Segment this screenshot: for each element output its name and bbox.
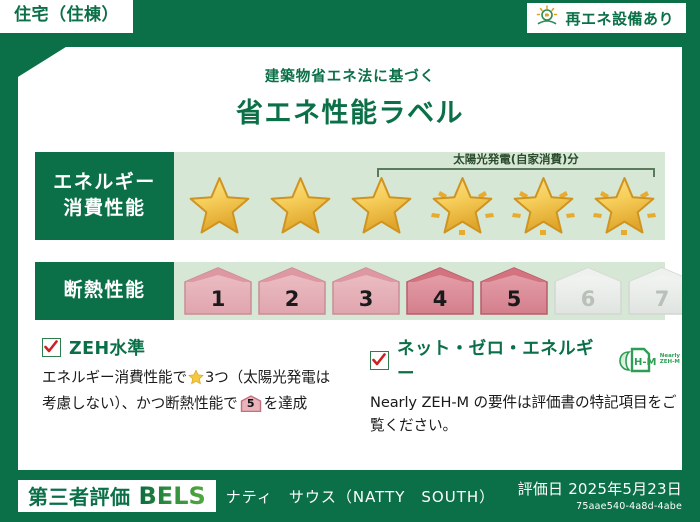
checkbox-checked-icon-2 [370, 351, 389, 370]
solar-bracket-caption: 太陽光発電(自家消費)分 [377, 151, 655, 167]
net-zero-energy-note: ネット・ゼロ・エネルギー H-M [370, 335, 680, 437]
evaluation-id: 75aae540-4a8d-4abe [518, 501, 682, 512]
label-frame: 住宅（住棟） 再エネ設備あり 建築物省エネ法に基づく 省エネ性能 [0, 0, 700, 522]
renewable-badge-label: 再エネ設備あり [565, 8, 674, 29]
insulation-row-body: 1234567 [174, 262, 665, 320]
evaluation-date: 評価日 2025年5月23日 [518, 478, 682, 499]
insulation-level-number: 4 [404, 287, 476, 311]
insulation-level-number: 7 [626, 287, 698, 311]
energy-star-3 [342, 170, 421, 238]
insulation-house-4: 4 [404, 266, 476, 316]
energy-label-line2: 消費性能 [63, 196, 145, 222]
building-type-tag: 住宅（住棟） [0, 0, 133, 33]
insulation-level-scale: 1234567 [182, 266, 698, 316]
page-title: 省エネ性能ラベル [18, 91, 682, 130]
zeh-body-prefix: エネルギー消費性能で [42, 369, 187, 386]
footer-bar: 第三者評価 BELS ナティ サウス（NATTY SOUTH） 評価日 2025… [0, 470, 700, 522]
zeh-note-title: ZEH水準 [69, 335, 145, 360]
bels-jp-label: 第三者評価 [28, 481, 131, 510]
energy-performance-row: エネルギー 消費性能 太陽光発電(自家消費)分 [35, 152, 665, 240]
energy-star-rating [174, 170, 665, 238]
zeh-note-head: ZEH水準 [42, 335, 342, 360]
nze-note-body: Nearly ZEH-M の要件は評価書の特記項目をご覧ください。 [370, 392, 680, 437]
insulation-label: 断熱性能 [63, 278, 145, 304]
insulation-level-number: 3 [330, 287, 402, 311]
energy-row-body: 太陽光発電(自家消費)分 [174, 152, 665, 240]
zeh-m-logo: H-M Nearly ZEH-M [616, 345, 680, 375]
checkbox-checked-icon [42, 338, 61, 357]
zeh-standard-note: ZEH水準 エネルギー消費性能で3つ（太陽光発電は考慮しない）、かつ断熱性能で5… [42, 335, 342, 415]
inline-house-badge: 5 [240, 395, 262, 412]
insulation-house-7: 7 [626, 266, 698, 316]
insulation-row-label: 断熱性能 [35, 262, 174, 320]
page-inner: 建築物省エネ法に基づく 省エネ性能ラベル エネルギー 消費性能 太陽光発電(自家… [18, 47, 682, 470]
zeh-m-sub2: ZEH-M [660, 360, 680, 366]
evaluation-info: 評価日 2025年5月23日 75aae540-4a8d-4abe [518, 478, 682, 512]
energy-star-1 [180, 170, 259, 238]
energy-star-4 [423, 170, 502, 238]
insulation-level-number: 2 [256, 287, 328, 311]
bels-logo-box: 第三者評価 BELS [18, 480, 216, 512]
energy-star-6 [585, 170, 664, 238]
energy-star-5 [504, 170, 583, 238]
inline-house-level: 5 [240, 395, 262, 412]
insulation-level-number: 6 [552, 287, 624, 311]
sun-icon [535, 5, 559, 31]
insulation-house-6: 6 [552, 266, 624, 316]
inline-star-icon [188, 369, 204, 393]
svg-text:H-M: H-M [634, 357, 657, 368]
white-page: 建築物省エネ法に基づく 省エネ性能ラベル エネルギー 消費性能 太陽光発電(自家… [18, 47, 682, 470]
insulation-house-2: 2 [256, 266, 328, 316]
insulation-level-number: 1 [182, 287, 254, 311]
insulation-level-number: 5 [478, 287, 550, 311]
nze-note-title: ネット・ゼロ・エネルギー [397, 335, 606, 385]
insulation-house-1: 1 [182, 266, 254, 316]
nze-note-head: ネット・ゼロ・エネルギー H-M [370, 335, 680, 385]
zeh-note-body: エネルギー消費性能で3つ（太陽光発電は考慮しない）、かつ断熱性能で5を達成 [42, 367, 342, 415]
energy-row-label: エネルギー 消費性能 [35, 152, 174, 240]
insulation-house-3: 3 [330, 266, 402, 316]
zeh-body-suffix: を達成 [264, 395, 307, 412]
insulation-performance-row: 断熱性能 1234567 [35, 262, 665, 320]
renewable-energy-badge: 再エネ設備あり [527, 3, 686, 33]
insulation-house-5: 5 [478, 266, 550, 316]
energy-star-2 [261, 170, 340, 238]
energy-label-line1: エネルギー [53, 170, 156, 196]
label-subtitle: 建築物省エネ法に基づく [18, 65, 682, 86]
building-name: ナティ サウス（NATTY SOUTH） [226, 486, 495, 507]
title-block: 建築物省エネ法に基づく 省エネ性能ラベル [18, 65, 682, 130]
bels-en-label: BELS [139, 482, 206, 510]
